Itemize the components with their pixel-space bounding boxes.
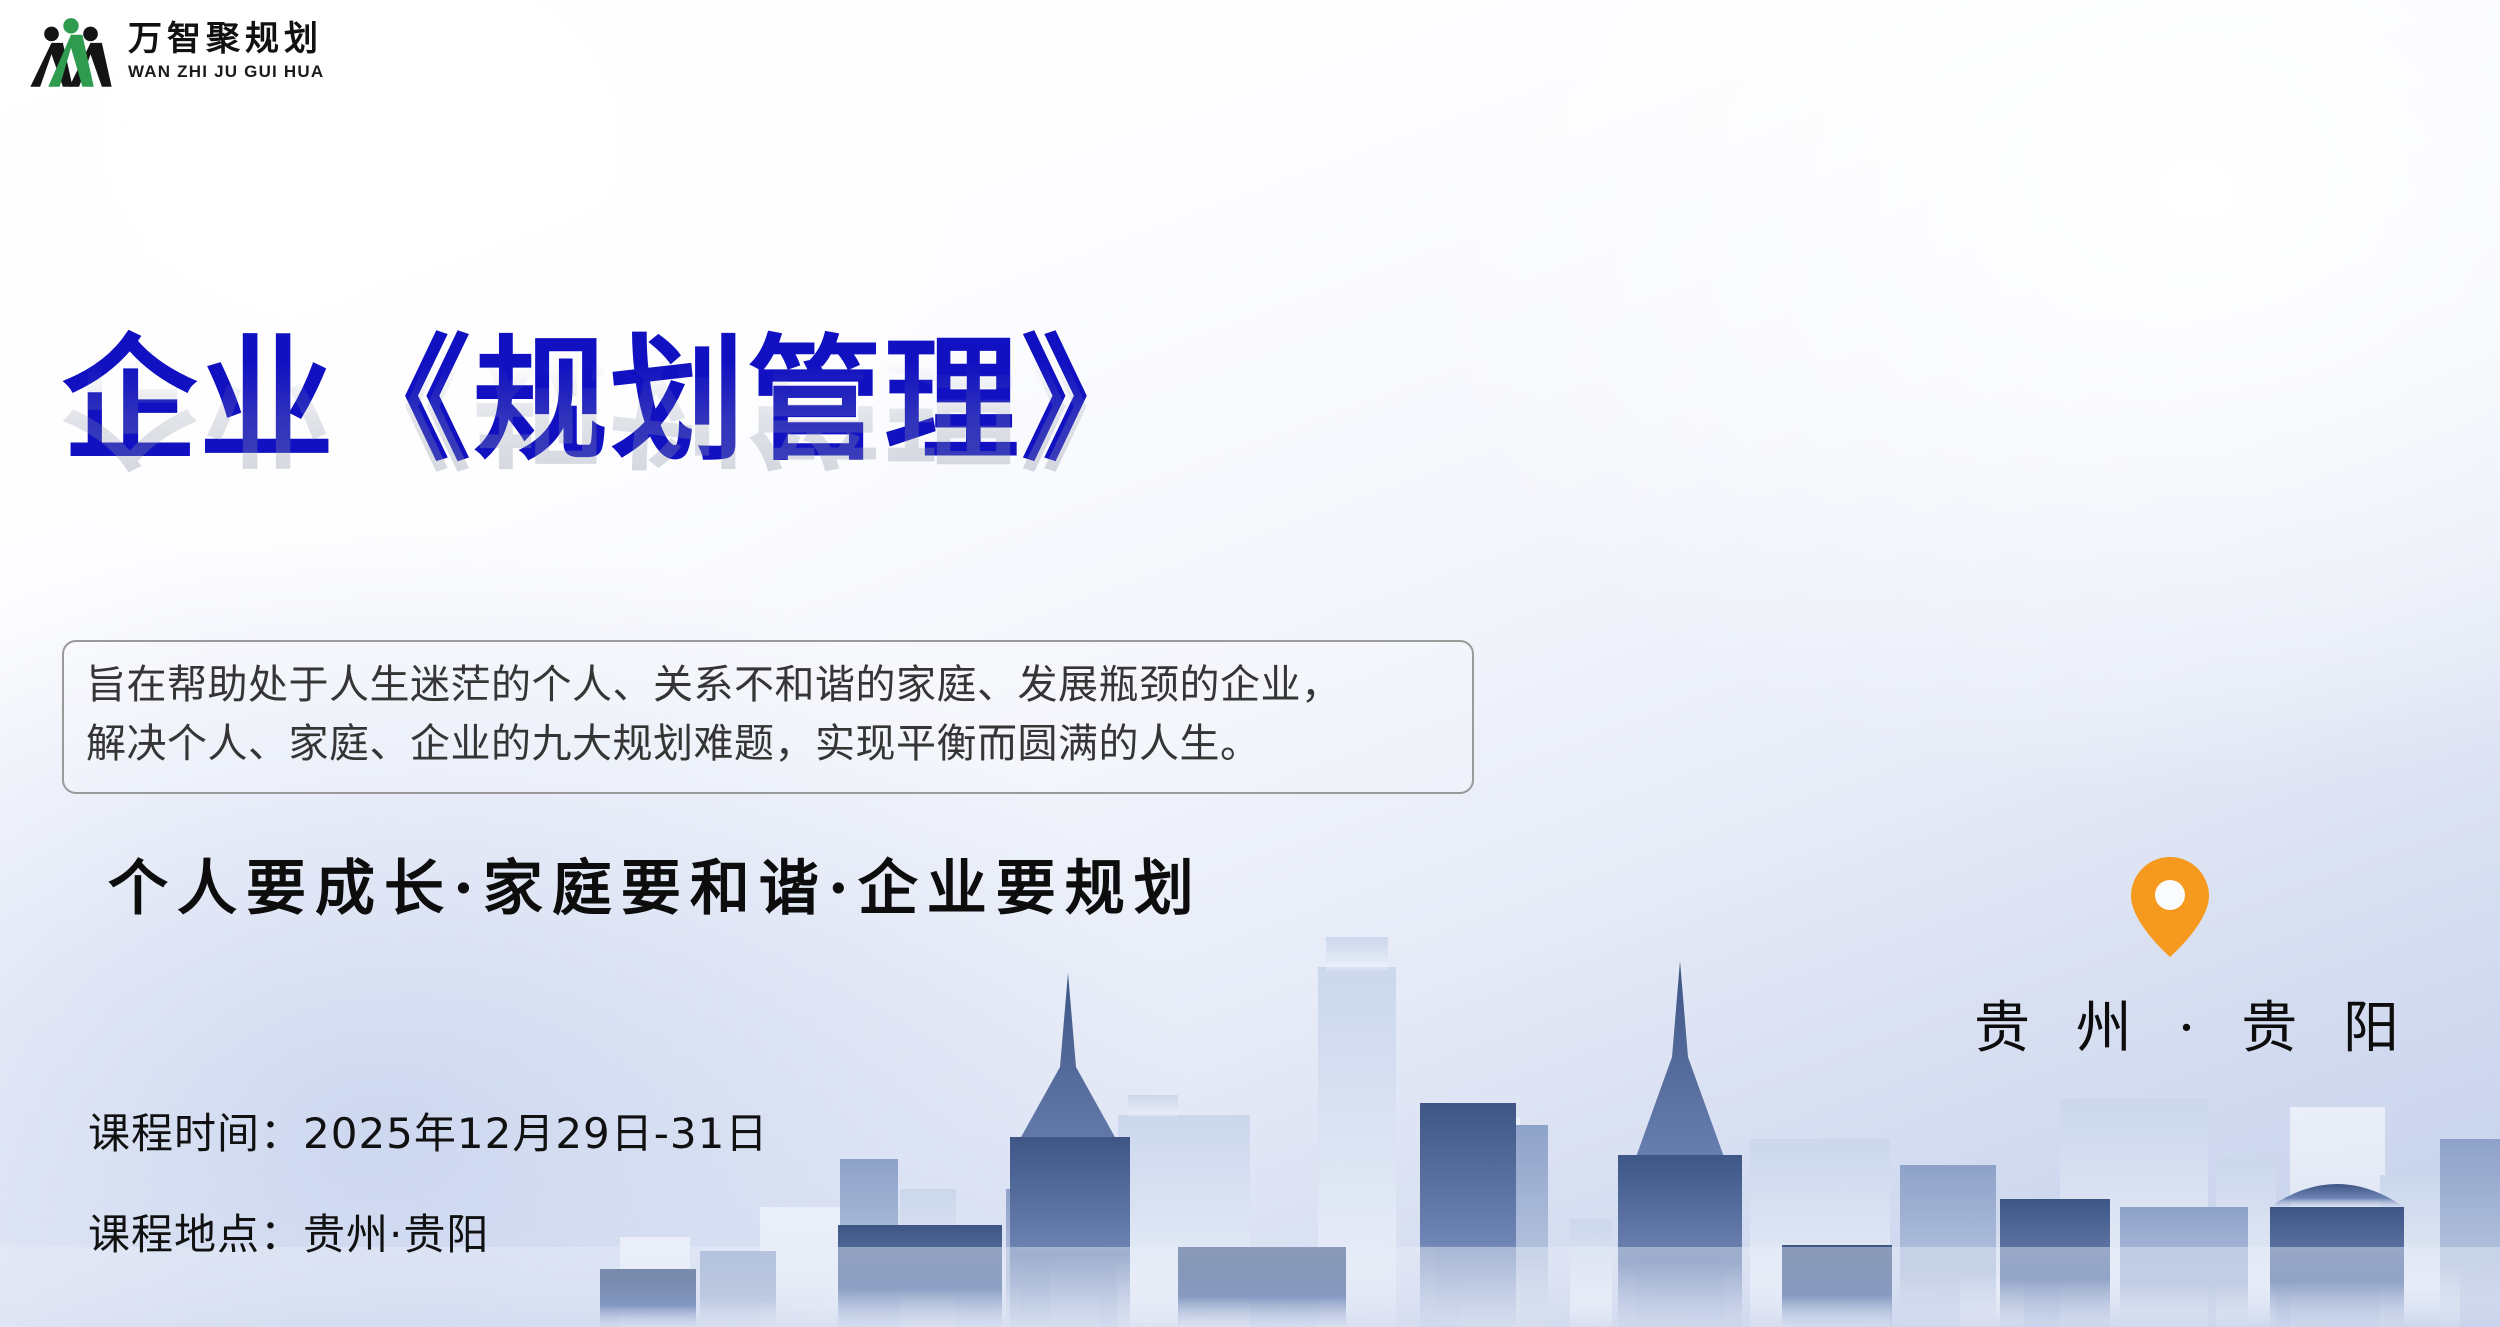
page-title-reflection: 企业《规划管理》 bbox=[62, 354, 1182, 472]
tagline: 个人要成长·家庭要和谐·企业要规划 bbox=[108, 840, 1203, 927]
three-people-logo-icon bbox=[30, 12, 112, 90]
brand-logo: 万智聚规划 WAN ZHI JU GUI HUA bbox=[30, 12, 324, 90]
course-info-block: 课程时间：2025年12月29日-31日 课程地点：贵州·贵阳 bbox=[88, 1100, 768, 1262]
hero-title-block: 企业《规划管理》 企业《规划管理》 bbox=[62, 330, 1182, 590]
course-time-row: 课程时间：2025年12月29日-31日 bbox=[88, 1100, 768, 1161]
description-line-1: 旨在帮助处于人生迷茫的个人、关系不和谐的家庭、发展瓶颈的企业， bbox=[86, 656, 1450, 715]
location-block: 贵 州 · 贵 阳 bbox=[1960, 855, 2380, 1064]
brand-name-cn: 万智聚规划 bbox=[128, 22, 324, 56]
city-label: 贵 州 · 贵 阳 bbox=[1960, 983, 2380, 1064]
brand-name-pinyin: WAN ZHI JU GUI HUA bbox=[128, 63, 324, 80]
description-line-2: 解决个人、家庭、企业的九大规划难题，实现平衡而圆满的人生。 bbox=[86, 715, 1450, 774]
description-box: 旨在帮助处于人生迷茫的个人、关系不和谐的家庭、发展瓶颈的企业， 解决个人、家庭、… bbox=[62, 640, 1474, 794]
map-pin-icon bbox=[2127, 855, 2213, 959]
promo-banner: 万智聚规划 WAN ZHI JU GUI HUA 企业《规划管理》 企业《规划管… bbox=[0, 0, 2500, 1327]
course-place-row: 课程地点：贵州·贵阳 bbox=[88, 1201, 768, 1262]
